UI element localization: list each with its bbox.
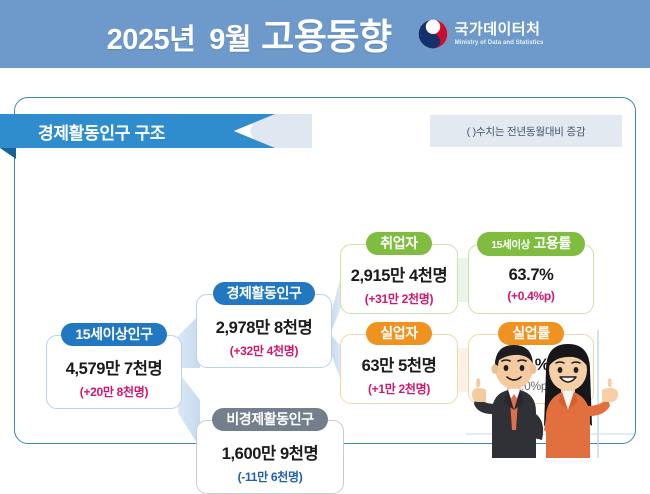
logo-text-block: 국가데이터처 Ministry of Data and Statistics [455, 22, 544, 46]
stat-box-unemployed: 실업자 63만 5천명 (+1만 2천명) [340, 334, 458, 404]
stat-value-unemployment-rate: 2.1% [513, 356, 549, 375]
stat-value-employment-rate: 63.7% [509, 266, 554, 285]
stat-value-population-15-plus: 4,579만 7천명 [66, 355, 163, 379]
stat-delta-unemployment-rate: (0.0%p) [511, 379, 551, 393]
stat-box-not-economically-active: 비경제활동인구 1,600만 9천명 (-11만 6천명) [196, 420, 344, 494]
stat-label-unemployment-rate: 실업률 [498, 322, 563, 345]
stat-delta-employment-rate: (+0.4%p) [507, 289, 554, 303]
taegeuk-icon [418, 19, 448, 49]
title-month: 9월 [209, 24, 251, 56]
logo-name-kr: 국가데이터처 [455, 22, 544, 37]
stat-value-unemployed: 63만 5천명 [362, 352, 437, 376]
stat-label-population-15-plus: 15세이상인구 [61, 323, 166, 346]
stat-box-employment-rate: 15세이상 고용률 63.7% (+0.4%p) [468, 244, 594, 314]
stat-delta-population-15-plus: (+20만 8천명) [80, 383, 148, 400]
stat-box-population-15-plus: 15세이상인구 4,579만 7천명 (+20만 8천명) [46, 335, 182, 409]
stat-delta-economically-active: (+32만 4천명) [230, 342, 298, 359]
stat-delta-not-economically-active: (-11만 6천명) [238, 468, 303, 485]
stat-label-not-economically-active: 비경제활동인구 [212, 408, 327, 431]
employment-rate-label-prefix: 15세이상 [491, 239, 530, 251]
stat-box-economically-active: 경제활동인구 2,978만 8천명 (+32만 4천명) [196, 294, 332, 368]
stat-label-employed: 취업자 [366, 232, 431, 255]
stat-value-economically-active: 2,978만 8천명 [216, 314, 313, 338]
employment-rate-label-main: 고용률 [533, 235, 570, 251]
stat-value-employed: 2,915만 4천명 [351, 262, 448, 286]
stat-label-employment-rate: 15세이상 고용률 [477, 232, 585, 256]
stat-value-not-economically-active: 1,600만 9천명 [222, 440, 319, 464]
stat-label-economically-active: 경제활동인구 [213, 282, 316, 305]
content-area: 경제활동인구 구조 ( )수치는 전년동월대비 증감 [0, 68, 650, 458]
stat-delta-employed: (+31만 2천명) [365, 290, 433, 307]
stat-box-employed: 취업자 2,915만 4천명 (+31만 2천명) [340, 244, 458, 314]
title-main: 고용동향 [261, 16, 391, 57]
header-content: 2025년9월고용동향 국가데이터처 Ministry of Data and … [107, 8, 544, 60]
page-header: 2025년9월고용동향 국가데이터처 Ministry of Data and … [0, 0, 650, 68]
page-title: 2025년9월고용동향 [107, 8, 392, 60]
stat-delta-unemployed: (+1만 2천명) [368, 380, 430, 397]
title-year: 2025년 [107, 24, 196, 56]
stat-label-unemployed: 실업자 [366, 322, 431, 345]
stat-box-unemployment-rate: 실업률 2.1% (0.0%p) [468, 334, 594, 404]
logo-name-en: Ministry of Data and Statistics [455, 40, 544, 46]
agency-logo: 국가데이터처 Ministry of Data and Statistics [418, 19, 544, 49]
